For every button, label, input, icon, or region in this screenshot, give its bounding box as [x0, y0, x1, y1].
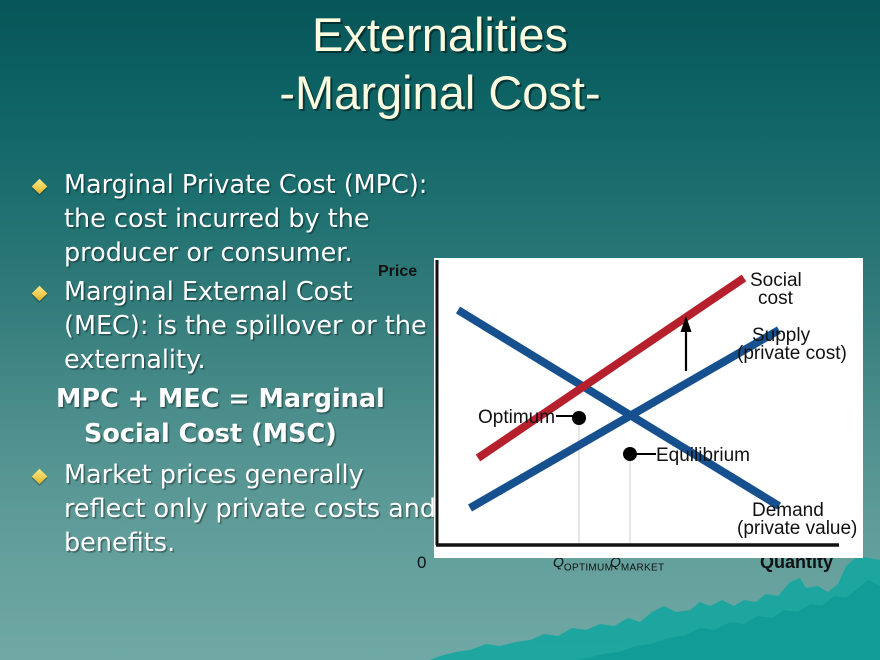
chart-y-axis-label: Price [378, 263, 417, 281]
list-item-text: Marginal External Cost (MEC): is the spi… [64, 277, 427, 375]
list-item: Market prices generally reflect only pri… [22, 458, 442, 560]
title-line-2: -Marginal Cost- [0, 64, 880, 122]
optimum-point [572, 411, 586, 425]
externality-supply-demand-chart: Social cost Supply (private cost) Demand… [434, 258, 863, 558]
equilibrium-label: Equilibrium [656, 445, 750, 466]
page-title: Externalities -Marginal Cost- [0, 6, 880, 122]
list-item: Marginal Private Cost (MPC): the cost in… [22, 168, 442, 270]
bullet-list: Marginal Private Cost (MPC): the cost in… [22, 168, 442, 565]
diamond-bullet-icon [32, 179, 48, 195]
list-item-text-second-line: Social Cost (MSC) [56, 417, 442, 452]
list-item-text: Marginal Private Cost (MPC): the cost in… [64, 170, 427, 268]
presentation-slide: Externalities -Marginal Cost- Marginal P… [0, 0, 880, 660]
social-cost-label-line2: cost [758, 288, 794, 309]
chart-origin-label: 0 [417, 553, 426, 573]
supply-label-line2: (private cost) [737, 343, 847, 364]
optimum-label: Optimum [478, 407, 555, 428]
list-item-text: MPC + MEC = Marginal [56, 384, 385, 414]
title-line-1: Externalities [312, 8, 568, 61]
list-item: Marginal External Cost (MEC): is the spi… [22, 275, 442, 377]
demand-label-line2: (private value) [737, 518, 857, 539]
diamond-bullet-icon [32, 286, 48, 302]
diamond-bullet-icon [32, 469, 48, 485]
list-item-text: Market prices generally reflect only pri… [64, 460, 436, 558]
list-item-emphasis: MPC + MEC = Marginal Social Cost (MSC) [22, 382, 442, 452]
